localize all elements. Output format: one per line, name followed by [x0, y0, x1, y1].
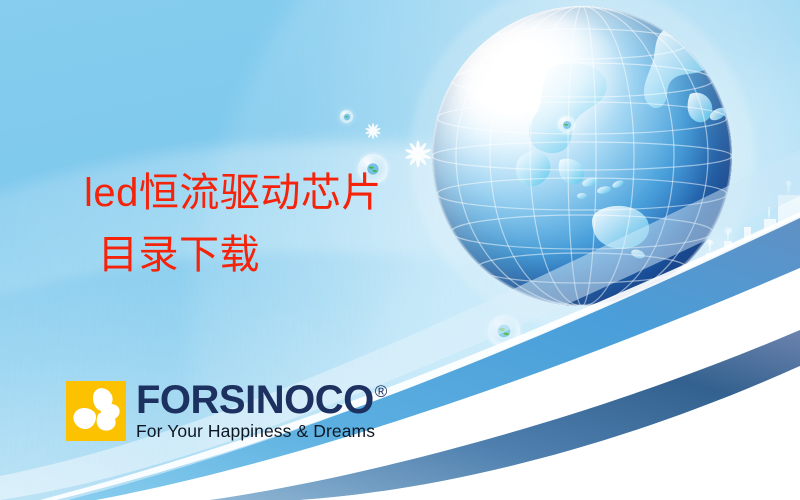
registered-trademark-icon: ®	[375, 383, 387, 400]
headline-line-2: 目录下载	[84, 224, 554, 286]
asterisk-flower-icon-2	[364, 122, 382, 140]
logo-mark	[66, 381, 126, 441]
bubble-globe-core-icon-2	[343, 113, 351, 121]
bubble-decoration-4	[558, 116, 575, 133]
bubble-decoration-3	[488, 315, 520, 347]
brand-name-row: FORSINOCO ®	[136, 381, 387, 419]
four-petal-pinwheel-icon	[66, 381, 126, 441]
brand-logo[interactable]: FORSINOCO ® For Your Happiness & Dreams	[66, 381, 387, 441]
promo-banner: led恒流驱动芯片 目录下载 FORSINOCO ® For Your Happ…	[0, 0, 800, 500]
bubble-globe-core-icon-3	[496, 323, 513, 340]
bubble-globe-core-icon-4	[562, 120, 572, 130]
headline-line-1: led恒流驱动芯片	[84, 162, 554, 224]
brand-tagline: For Your Happiness & Dreams	[136, 423, 387, 441]
bubble-decoration-2	[340, 110, 353, 123]
headline: led恒流驱动芯片 目录下载	[84, 162, 554, 286]
logo-text-block: FORSINOCO ® For Your Happiness & Dreams	[136, 381, 387, 441]
brand-name: FORSINOCO	[136, 381, 374, 419]
